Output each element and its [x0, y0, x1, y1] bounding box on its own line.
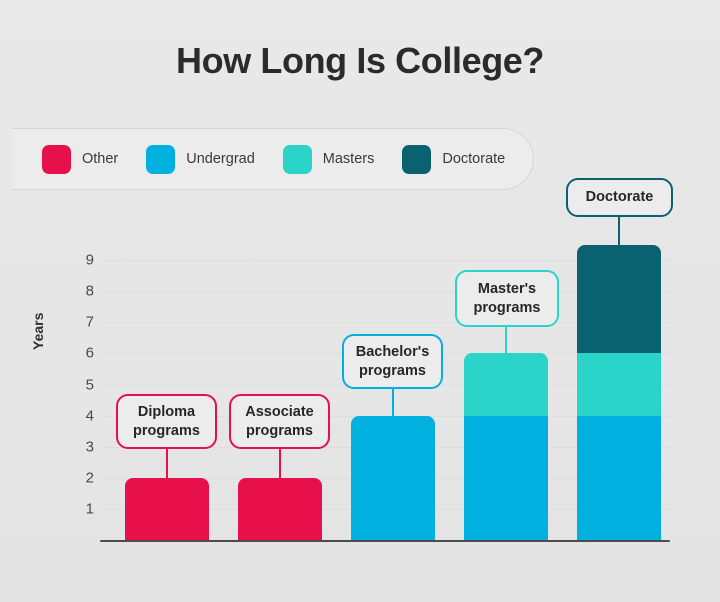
y-tick-label-7: 7 [72, 314, 94, 331]
callout-associate-programs[interactable]: Associateprograms [229, 394, 330, 449]
callout-label: Bachelor'sprograms [356, 343, 430, 379]
y-tick-label-6: 6 [72, 345, 94, 362]
y-tick-label-9: 9 [72, 252, 94, 269]
bar-segment-undergrad[interactable] [351, 416, 435, 540]
callout-label: Doctorate [586, 188, 654, 206]
bar-segment-undergrad[interactable] [464, 416, 548, 540]
callout-bachelor-s-programs[interactable]: Bachelor'sprograms [342, 334, 443, 389]
bar-segment-undergrad[interactable] [577, 416, 661, 540]
bar-segment-doctorate[interactable] [577, 245, 661, 354]
callout-connector-5 [618, 217, 620, 245]
callout-connector-2 [279, 449, 281, 478]
bar-segment-masters[interactable] [577, 353, 661, 415]
y-axis-title: Years [30, 313, 46, 350]
callout-connector-3 [392, 389, 394, 416]
callout-doctorate[interactable]: Doctorate [566, 178, 673, 217]
callout-diploma-programs[interactable]: Diplomaprograms [116, 394, 217, 449]
bar-segment-masters[interactable] [464, 353, 548, 415]
callout-label: Associateprograms [245, 403, 314, 439]
y-tick-label-4: 4 [72, 407, 94, 424]
callout-label: Master'sprograms [474, 280, 541, 316]
callout-label: Diplomaprograms [133, 403, 200, 439]
bar-segment-other[interactable] [125, 478, 209, 540]
callout-connector-4 [505, 327, 507, 353]
y-tick-label-3: 3 [72, 438, 94, 455]
y-tick-label-1: 1 [72, 500, 94, 517]
bar-segment-other[interactable] [238, 478, 322, 540]
chart-canvas: How Long Is College? Other Undergrad Mas… [0, 0, 720, 602]
y-tick-label-8: 8 [72, 283, 94, 300]
callout-connector-1 [166, 449, 168, 478]
bar-group-3[interactable] [351, 0, 435, 540]
plot-area: Years 123456789 DiplomaprogramsAssociate… [0, 0, 720, 602]
x-axis-line [100, 540, 670, 542]
y-tick-label-5: 5 [72, 376, 94, 393]
callout-master-s-programs[interactable]: Master'sprograms [455, 270, 559, 327]
y-tick-label-2: 2 [72, 469, 94, 486]
bar-group-5[interactable] [577, 0, 661, 540]
